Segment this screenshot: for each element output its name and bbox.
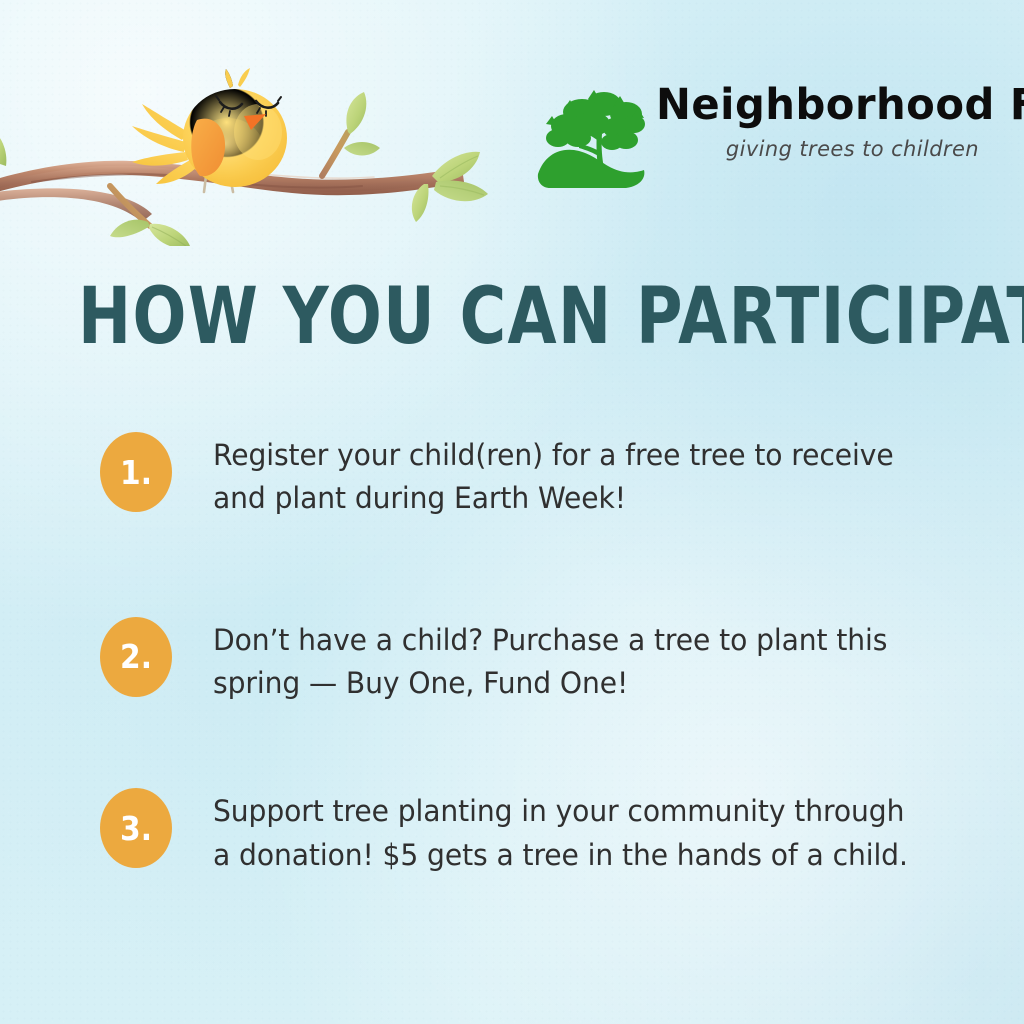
step-number-badge: 1. (100, 432, 172, 512)
logo-name: Neighborhood Forest (656, 84, 971, 127)
list-item: 2. Don’t have a child? Purchase a tree t… (96, 617, 956, 706)
step-description: Don’t have a child? Purchase a tree to p… (213, 617, 923, 706)
branch-sprig-upper (322, 92, 380, 176)
step-number-badge: 3. (100, 788, 172, 868)
branch-leaf-edge (0, 130, 6, 166)
step-number-badge: 2. (100, 617, 172, 697)
brand-logo: Neighborhood Forest giving trees to chil… (534, 78, 984, 200)
step-description: Register your child(ren) for a free tree… (213, 432, 923, 521)
branch-leaf-cluster-right (412, 152, 488, 222)
branch-sprig-lower (110, 186, 190, 246)
step-description: Support tree planting in your community … (213, 788, 923, 877)
participation-steps-list: 1. Register your child(ren) for a free t… (96, 432, 956, 941)
logo-tagline: giving trees to children (656, 137, 981, 161)
list-item: 1. Register your child(ren) for a free t… (96, 432, 956, 521)
page-title: HOW YOU CAN PARTICIPATE: (78, 278, 1024, 357)
tree-in-hand-icon (534, 82, 652, 194)
list-item: 3. Support tree planting in your communi… (96, 788, 956, 877)
logo-wordmark: Neighborhood Forest giving trees to chil… (656, 84, 981, 161)
poster-canvas: Neighborhood Forest giving trees to chil… (0, 0, 1024, 1024)
branch-with-bird-illustration (0, 36, 522, 246)
